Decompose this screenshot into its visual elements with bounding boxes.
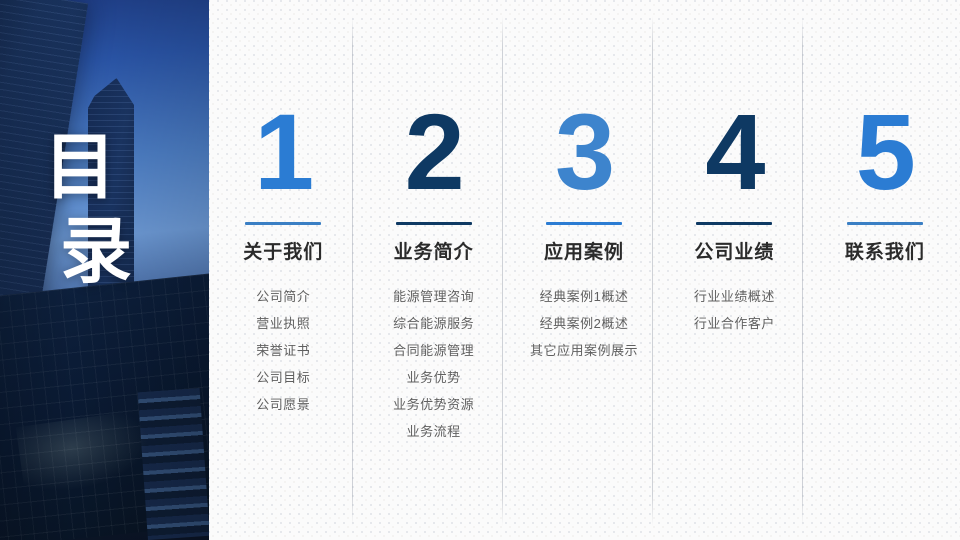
list-item[interactable]: 业务优势 — [358, 364, 508, 391]
list-item[interactable]: 能源管理咨询 — [358, 283, 508, 310]
column-heading[interactable]: 应用案例 — [509, 241, 659, 265]
list-item[interactable]: 合同能源管理 — [358, 337, 508, 364]
list-item[interactable]: 行业业绩概述 — [659, 283, 809, 310]
column-heading[interactable]: 业务简介 — [358, 241, 508, 265]
column-item-list: 能源管理咨询 综合能源服务 合同能源管理 业务优势 业务优势资源 业务流程 — [358, 283, 508, 445]
column-number: 4 — [659, 96, 809, 208]
toc-column-5[interactable]: 5 联系我们 — [810, 0, 960, 540]
list-item[interactable]: 公司目标 — [208, 364, 358, 391]
column-number: 3 — [509, 96, 659, 208]
column-rule — [546, 222, 622, 225]
column-item-list: 经典案例1概述 经典案例2概述 其它应用案例展示 — [509, 283, 659, 364]
skyscraper-photo-panel: 目 录 — [0, 0, 209, 540]
page-title: 目 录 — [44, 126, 174, 294]
column-number: 5 — [810, 96, 960, 208]
list-item[interactable]: 营业执照 — [208, 310, 358, 337]
slide-root: 目 录 1 关于我们 公司简介 营业执照 荣誉证书 公司目标 公司愿景 2 业务… — [0, 0, 960, 540]
list-item[interactable]: 业务优势资源 — [358, 391, 508, 418]
toc-column-2[interactable]: 2 业务简介 能源管理咨询 综合能源服务 合同能源管理 业务优势 业务优势资源 … — [358, 0, 508, 540]
column-heading[interactable]: 关于我们 — [208, 241, 358, 265]
list-item[interactable]: 业务流程 — [358, 418, 508, 445]
list-item[interactable]: 经典案例2概述 — [509, 310, 659, 337]
list-item[interactable]: 行业合作客户 — [659, 310, 809, 337]
list-item[interactable]: 经典案例1概述 — [509, 283, 659, 310]
column-rule — [847, 222, 923, 225]
column-number: 2 — [358, 96, 508, 208]
column-item-list: 公司简介 营业执照 荣誉证书 公司目标 公司愿景 — [208, 283, 358, 418]
column-number: 1 — [208, 96, 358, 208]
column-rule — [396, 222, 472, 225]
column-rule — [245, 222, 321, 225]
list-item[interactable]: 其它应用案例展示 — [509, 337, 659, 364]
toc-column-1[interactable]: 1 关于我们 公司简介 营业执照 荣誉证书 公司目标 公司愿景 — [208, 0, 358, 540]
list-item[interactable]: 荣誉证书 — [208, 337, 358, 364]
toc-column-3[interactable]: 3 应用案例 经典案例1概述 经典案例2概述 其它应用案例展示 — [509, 0, 659, 540]
toc-column-4[interactable]: 4 公司业绩 行业业绩概述 行业合作客户 — [659, 0, 809, 540]
page-title-line-2: 录 — [60, 210, 174, 294]
list-item[interactable]: 公司愿景 — [208, 391, 358, 418]
column-rule — [696, 222, 772, 225]
page-title-line-1: 目 — [44, 128, 118, 208]
column-heading[interactable]: 联系我们 — [810, 241, 960, 265]
column-item-list: 行业业绩概述 行业合作客户 — [659, 283, 809, 337]
list-item[interactable]: 公司简介 — [208, 283, 358, 310]
toc-columns: 1 关于我们 公司简介 营业执照 荣誉证书 公司目标 公司愿景 2 业务简介 能… — [208, 0, 960, 540]
list-item[interactable]: 综合能源服务 — [358, 310, 508, 337]
column-heading[interactable]: 公司业绩 — [659, 241, 809, 265]
